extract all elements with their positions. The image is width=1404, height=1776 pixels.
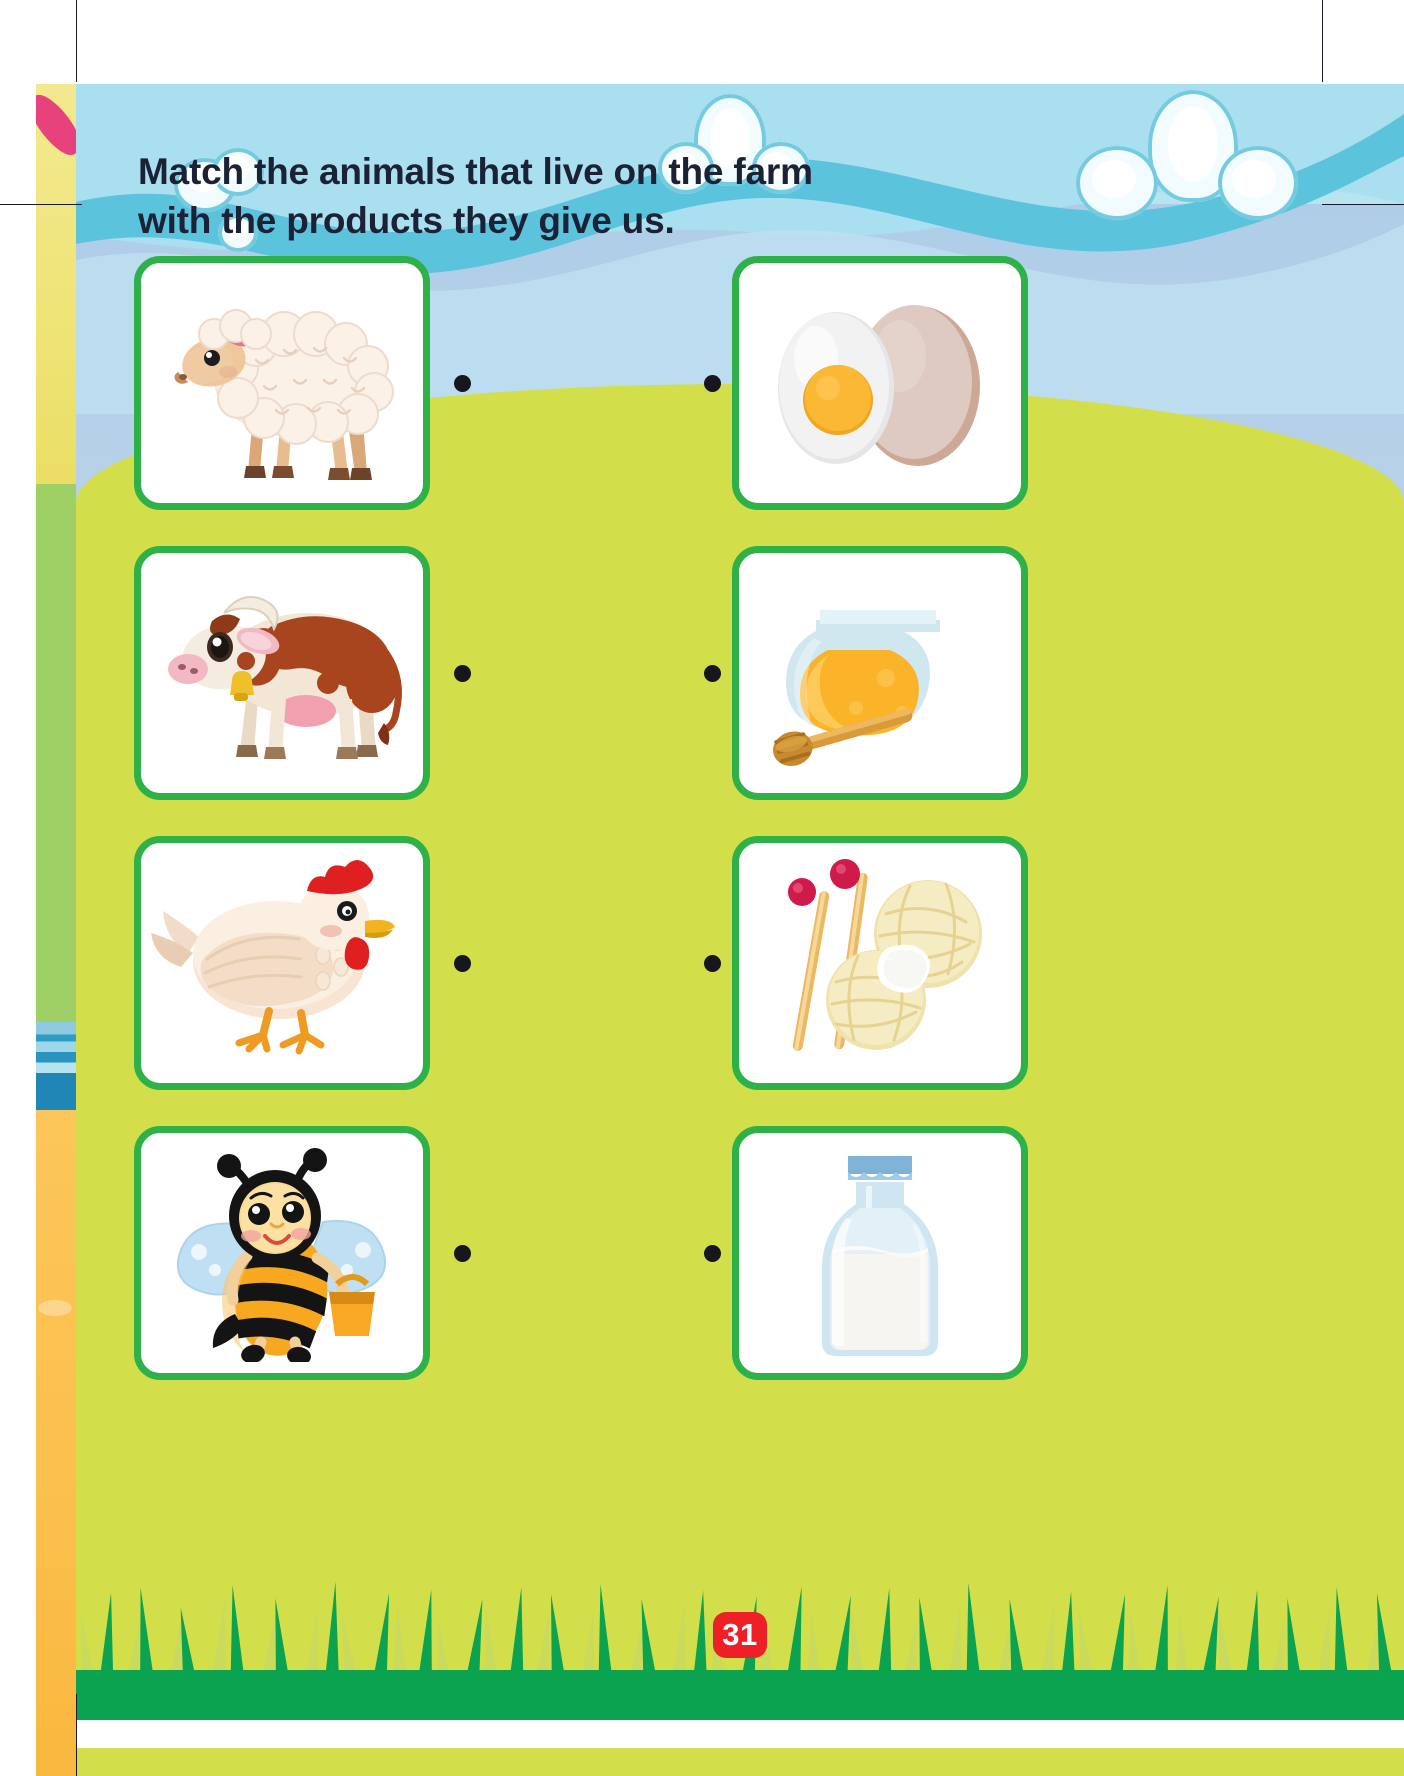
connector-dot-right-1[interactable] [704,375,721,392]
animal-card-cow[interactable] [134,546,430,800]
milk-bottle-illustration [750,1146,1010,1360]
cow-illustration [150,565,414,781]
connector-dot-left-2[interactable] [454,665,471,682]
hen-illustration [151,855,413,1071]
crop-mark-bottom-left [76,1694,77,1776]
animal-card-sheep[interactable] [134,256,430,510]
worksheet-page: Match the animals that live on the farm … [0,0,1404,1776]
connector-dot-right-3[interactable] [704,955,721,972]
page-number-badge: 31 [713,1612,767,1658]
sheep-illustration [152,276,412,490]
eggs-illustration [750,276,1010,490]
crop-mark-left-top [0,204,82,205]
connector-dot-right-2[interactable] [704,665,721,682]
page-bleed-strip [36,84,76,1776]
bleed-pink-accent [36,88,76,162]
crop-mark-top-left [76,0,77,82]
connector-dot-left-1[interactable] [454,375,471,392]
crop-mark-right-top [1322,204,1404,205]
bleed-blue-stripes [36,1022,76,1110]
bleed-orange-segment [36,1110,76,1776]
connector-dot-right-4[interactable] [704,1245,721,1262]
bleed-yellow-segment [36,84,76,512]
animal-card-hen[interactable] [134,836,430,1090]
animal-card-bee[interactable] [134,1126,430,1380]
wool-yarn-illustration [750,856,1010,1070]
crop-mark-top-right [1322,0,1323,82]
matching-grid [76,84,1404,1776]
product-card-eggs[interactable] [732,256,1028,510]
product-card-milk[interactable] [732,1126,1028,1380]
worksheet-artboard: Match the animals that live on the farm … [76,84,1404,1776]
bee-illustration [151,1144,413,1362]
connector-dot-left-3[interactable] [454,955,471,972]
honey-jar-illustration [750,566,1010,780]
connector-dot-left-4[interactable] [454,1245,471,1262]
product-card-honey[interactable] [732,546,1028,800]
bleed-green-segment [36,484,76,1024]
product-card-wool[interactable] [732,836,1028,1090]
